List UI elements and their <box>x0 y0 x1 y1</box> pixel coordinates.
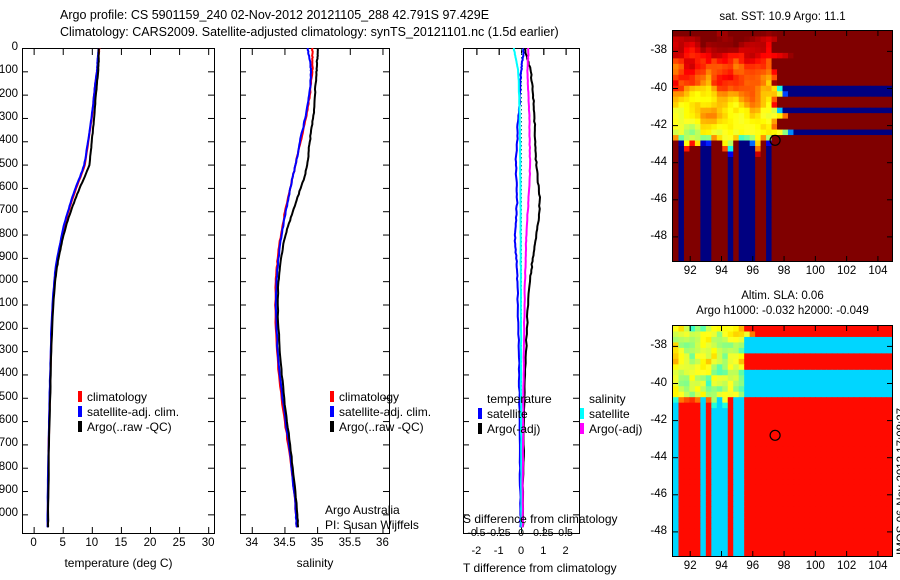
legend-swatch-salinity-satellite <box>580 408 584 419</box>
temperature-xticklabels: 051015202530 <box>22 537 215 553</box>
salinity-difference-tick-label: 0.25 <box>533 527 553 539</box>
legend-item-argo-raw: Argo(..raw -QC) <box>78 420 179 435</box>
sla-lat-tick-label: -44 <box>650 451 667 463</box>
legend-label-argo-raw-salinity: Argo(..raw -QC) <box>339 420 424 434</box>
difference-legend-temperature: temperature satellite Argo(-adj) <box>478 392 552 437</box>
sst-lat-tick-label: -46 <box>650 193 667 205</box>
salinity-tick-label: 34.5 <box>273 537 295 549</box>
salinity-tick-label: 35 <box>311 537 324 549</box>
legend-swatch-salinity-argo-adj <box>580 423 584 434</box>
temperature-tick-label: 15 <box>115 537 128 549</box>
sst-lon-tick-label: 96 <box>746 265 759 277</box>
sst-lon-tick-label: 104 <box>868 265 887 277</box>
temperature-tick-label: 30 <box>202 537 215 549</box>
sst-lat-tick-label: -38 <box>650 44 667 56</box>
temperature-difference-tick-label: -1 <box>494 545 504 557</box>
legend-item-temperature-satellite: satellite <box>478 407 552 422</box>
legend-item-temperature-argo-adj: Argo(-adj) <box>478 422 552 437</box>
sla-map-raster <box>673 326 892 556</box>
sla-lon-tick-label: 100 <box>806 560 825 572</box>
temperature-difference-tick-label: -2 <box>471 545 481 557</box>
temperature-tick-label: 25 <box>173 537 186 549</box>
depth-tick-label: 200 <box>0 88 18 100</box>
legend-item-satellite-adj-clim: satellite-adj. clim. <box>78 405 179 420</box>
temperature-tick-label: 10 <box>85 537 98 549</box>
legend-label-climatology: climatology <box>87 390 147 404</box>
sst-lat-tick-label: -42 <box>650 119 667 131</box>
legend-swatch-satellite-adj-clim <box>78 406 82 417</box>
legend-swatch-argo-raw-salinity <box>330 421 334 432</box>
sla-lat-tick-label: -46 <box>650 488 667 500</box>
sst-lon-tick-label: 94 <box>715 265 728 277</box>
difference-legend-salinity: salinity satellite Argo(-adj) <box>580 392 642 437</box>
legend-swatch-argo-raw <box>78 421 82 432</box>
depth-tick-label: 1300 <box>0 344 18 356</box>
temperature-axis-label: temperature (deg C) <box>22 556 215 570</box>
legend-item-climatology: climatology <box>78 390 179 405</box>
depth-tick-label: 1400 <box>0 367 18 379</box>
salinity-plot-area <box>240 48 390 534</box>
temperature-plot-area <box>22 48 215 534</box>
sla-lon-tick-label: 102 <box>837 560 856 572</box>
legend-swatch-climatology <box>78 391 82 402</box>
sst-map[interactable] <box>672 30 893 262</box>
sst-map-yticklabels: -38-40-42-44-46-48 <box>640 30 670 262</box>
legend-item-argo-raw-salinity: Argo(..raw -QC) <box>330 420 431 435</box>
temperature-panel <box>22 48 215 534</box>
legend-item-salinity-satellite: satellite <box>580 407 642 422</box>
legend-item-satellite-adj-clim-salinity: satellite-adj. clim. <box>330 405 431 420</box>
depth-tick-label: 700 <box>0 204 18 216</box>
sst-map-title: sat. SST: 10.9 Argo: 11.1 <box>672 10 893 25</box>
legend-swatch-temperature-satellite <box>478 408 482 419</box>
depth-tick-label: 800 <box>0 228 18 240</box>
legend-swatch-satellite-adj-clim-salinity <box>330 406 334 417</box>
depth-tick-label: 600 <box>0 181 18 193</box>
sst-map-xticklabels: 92949698100102104 <box>672 265 893 281</box>
salinity-tick-label: 34 <box>245 537 258 549</box>
temperature-difference-tick-label: 1 <box>540 545 546 557</box>
depth-tick-label: 500 <box>0 158 18 170</box>
legend-label-argo-raw: Argo(..raw -QC) <box>87 420 172 434</box>
sla-lat-tick-label: -40 <box>650 377 667 389</box>
salinity-difference-axis-label: S difference from climatology <box>463 512 618 526</box>
sla-map-yticklabels: -38-40-42-44-46-48 <box>640 325 670 557</box>
depth-tick-label: 1000 <box>0 274 18 286</box>
temperature-depth-ticklabels: 0100200300400500600700800900100011001200… <box>0 48 20 534</box>
sla-lon-tick-label: 104 <box>868 560 887 572</box>
imos-timestamp: IMOS 06-Nov-2012 17:08:27 <box>896 555 900 567</box>
sst-lon-tick-label: 100 <box>806 265 825 277</box>
temperature-tick-label: 20 <box>144 537 157 549</box>
sst-map-raster <box>673 31 892 261</box>
salinity-tick-label: 35.5 <box>339 537 361 549</box>
depth-tick-label: 2000 <box>0 507 18 519</box>
legend-swatch-climatology-salinity <box>330 391 334 402</box>
sst-lon-tick-label: 92 <box>684 265 697 277</box>
salinity-difference-tick-label: -0.25 <box>487 527 511 539</box>
legend-label-salinity-satellite: satellite <box>589 407 630 421</box>
salinity-axis-label: salinity <box>240 556 390 570</box>
salinity-xticklabels: 3434.53535.536 <box>240 537 390 553</box>
sla-map-title-line-1: Altim. SLA: 0.06 <box>672 289 893 304</box>
depth-tick-label: 1500 <box>0 391 18 403</box>
depth-tick-label: 1600 <box>0 414 18 426</box>
attribution-org: Argo Australia <box>325 503 400 517</box>
salinity-difference-tick-label: 0.5 <box>558 527 573 539</box>
sla-map-title-line-2: Argo h1000: -0.032 h2000: -0.049 <box>652 304 900 319</box>
sla-lon-tick-label: 96 <box>746 560 759 572</box>
depth-tick-label: 1800 <box>0 461 18 473</box>
legend-heading-salinity: salinity <box>580 392 642 407</box>
difference-plot-area <box>463 48 580 534</box>
depth-tick-label: 100 <box>0 64 18 76</box>
depth-tick-label: 300 <box>0 111 18 123</box>
legend-item-climatology-salinity: climatology <box>330 390 431 405</box>
legend-label-temperature-satellite: satellite <box>487 407 528 421</box>
page-title-line-1: Argo profile: CS 5901159_240 02-Nov-2012… <box>60 8 489 23</box>
legend-item-salinity-argo-adj: Argo(-adj) <box>580 422 642 437</box>
depth-tick-label: 1900 <box>0 484 18 496</box>
difference-bottom-xticklabels: -2-1012 <box>463 545 580 559</box>
depth-tick-label: 0 <box>12 41 18 53</box>
depth-tick-label: 1700 <box>0 437 18 449</box>
salinity-legend: climatology satellite-adj. clim. Argo(..… <box>330 390 431 435</box>
page-title-line-2: Climatology: CARS2009. Satellite-adjuste… <box>60 25 559 40</box>
sla-lon-tick-label: 98 <box>778 560 791 572</box>
temperature-tick-label: 5 <box>60 537 66 549</box>
legend-swatch-temperature-argo-adj <box>478 423 482 434</box>
legend-label-climatology-salinity: climatology <box>339 390 399 404</box>
temperature-tick-label: 0 <box>30 537 36 549</box>
difference-panel <box>463 48 580 534</box>
legend-heading-temperature: temperature <box>478 392 552 407</box>
attribution-pi: PI: Susan Wijffels <box>325 518 419 532</box>
sst-lon-tick-label: 98 <box>778 265 791 277</box>
sla-lon-tick-label: 94 <box>715 560 728 572</box>
legend-label-salinity-argo-adj: Argo(-adj) <box>589 422 642 436</box>
sst-lat-tick-label: -40 <box>650 82 667 94</box>
depth-tick-label: 400 <box>0 134 18 146</box>
legend-label-temperature-argo-adj: Argo(-adj) <box>487 422 540 436</box>
temperature-difference-tick-label: 0 <box>518 545 524 557</box>
imos-timestamp-text: IMOS 06-Nov-2012 17:08:27 <box>896 408 900 555</box>
depth-tick-label: 1100 <box>0 297 18 309</box>
salinity-panel <box>240 48 390 534</box>
difference-top-xticklabels: -0.5-0.2500.250.5 <box>463 527 580 541</box>
sla-lat-tick-label: -48 <box>650 525 667 537</box>
temperature-difference-axis-label: T difference from climatology <box>463 561 617 575</box>
salinity-tick-label: 36 <box>376 537 389 549</box>
sst-lon-tick-label: 102 <box>837 265 856 277</box>
salinity-difference-tick-label: 0 <box>518 527 524 539</box>
salinity-difference-tick-label: -0.5 <box>467 527 485 539</box>
legend-label-satellite-adj-clim: satellite-adj. clim. <box>87 405 179 419</box>
sla-map-xticklabels: 92949698100102104 <box>672 560 893 576</box>
temperature-difference-tick-label: 2 <box>563 545 569 557</box>
sst-lat-tick-label: -48 <box>650 230 667 242</box>
sla-lat-tick-label: -38 <box>650 339 667 351</box>
sla-lat-tick-label: -42 <box>650 414 667 426</box>
sst-lat-tick-label: -44 <box>650 156 667 168</box>
sla-lon-tick-label: 92 <box>684 560 697 572</box>
sla-map[interactable] <box>672 325 893 557</box>
temperature-legend: climatology satellite-adj. clim. Argo(..… <box>78 390 179 435</box>
depth-tick-label: 1200 <box>0 321 18 333</box>
depth-tick-label: 900 <box>0 251 18 263</box>
legend-label-satellite-adj-clim-salinity: satellite-adj. clim. <box>339 405 431 419</box>
